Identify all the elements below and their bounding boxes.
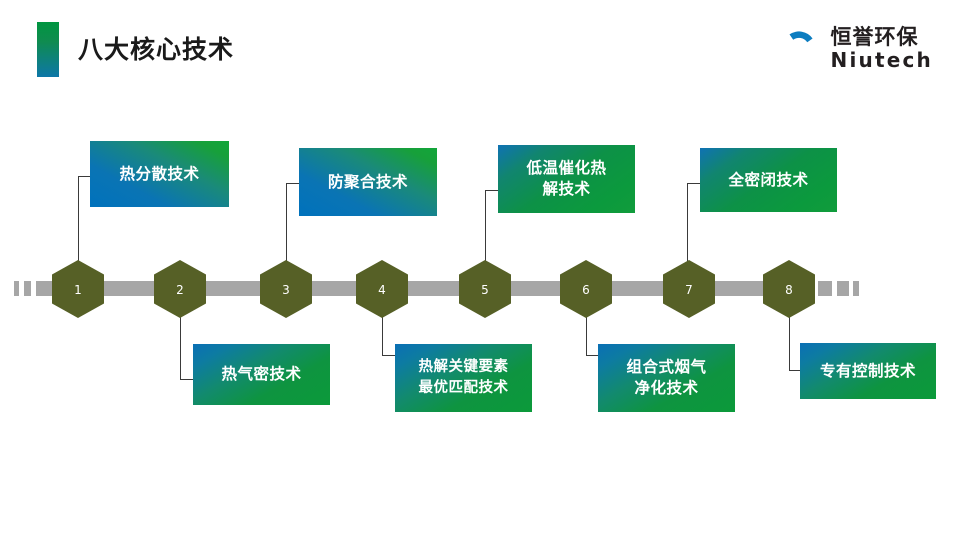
timeline-node-6[interactable]: 6 bbox=[560, 260, 612, 318]
node-number-1: 1 bbox=[74, 283, 82, 296]
node-number-3: 3 bbox=[282, 283, 290, 296]
tech-label-7[interactable]: 全密闭技术 bbox=[700, 148, 837, 212]
tech-label-6-line2: 净化技术 bbox=[634, 378, 698, 399]
tech-label-6-line1: 组合式烟气 bbox=[626, 357, 706, 378]
tech-label-8-text: 专有控制技术 bbox=[820, 361, 916, 382]
node-number-2: 2 bbox=[176, 283, 184, 296]
tech-label-1[interactable]: 热分散技术 bbox=[90, 141, 229, 207]
rail-dash-right-2 bbox=[837, 281, 849, 296]
node-number-6: 6 bbox=[582, 283, 590, 296]
node-number-4: 4 bbox=[378, 283, 386, 296]
timeline-node-5[interactable]: 5 bbox=[459, 260, 511, 318]
timeline-node-3[interactable]: 3 bbox=[260, 260, 312, 318]
tech-label-2-text: 热气密技术 bbox=[221, 364, 301, 385]
tech-label-4-line2: 最优匹配技术 bbox=[419, 378, 509, 399]
rail-dash-right-1 bbox=[818, 281, 832, 296]
tech-label-5-line1: 低温催化热 bbox=[526, 158, 606, 179]
timeline-node-8[interactable]: 8 bbox=[763, 260, 815, 318]
timeline-node-4[interactable]: 4 bbox=[356, 260, 408, 318]
tech-label-4-line1: 热解关键要素 bbox=[419, 357, 509, 378]
rail-dash-left-3 bbox=[36, 281, 50, 296]
node-number-7: 7 bbox=[685, 283, 693, 296]
rail-dash-left-2 bbox=[24, 281, 31, 296]
node-number-5: 5 bbox=[481, 283, 489, 296]
tech-label-7-text: 全密闭技术 bbox=[728, 170, 808, 191]
tech-label-4[interactable]: 热解关键要素 最优匹配技术 bbox=[395, 344, 532, 412]
tech-label-2[interactable]: 热气密技术 bbox=[193, 344, 330, 405]
tech-label-3-text: 防聚合技术 bbox=[328, 172, 408, 193]
rail-dash-left-1 bbox=[14, 281, 19, 296]
tech-label-8[interactable]: 专有控制技术 bbox=[800, 343, 936, 399]
timeline-node-2[interactable]: 2 bbox=[154, 260, 206, 318]
timeline-diagram: 1 2 3 4 5 6 7 8 热分散技术 防聚合技术 低温催化 bbox=[0, 0, 955, 534]
tech-label-5[interactable]: 低温催化热 解技术 bbox=[498, 145, 635, 213]
node-number-8: 8 bbox=[785, 283, 793, 296]
timeline-node-1[interactable]: 1 bbox=[52, 260, 104, 318]
tech-label-3[interactable]: 防聚合技术 bbox=[299, 148, 437, 216]
tech-label-1-text: 热分散技术 bbox=[119, 164, 199, 185]
slide-canvas: 八大核心技术 恒誉环保 Niutech bbox=[0, 0, 955, 534]
tech-label-5-line2: 解技术 bbox=[542, 179, 590, 200]
tech-label-6[interactable]: 组合式烟气 净化技术 bbox=[598, 344, 735, 412]
timeline-node-7[interactable]: 7 bbox=[663, 260, 715, 318]
rail-dash-right-3 bbox=[853, 281, 859, 296]
